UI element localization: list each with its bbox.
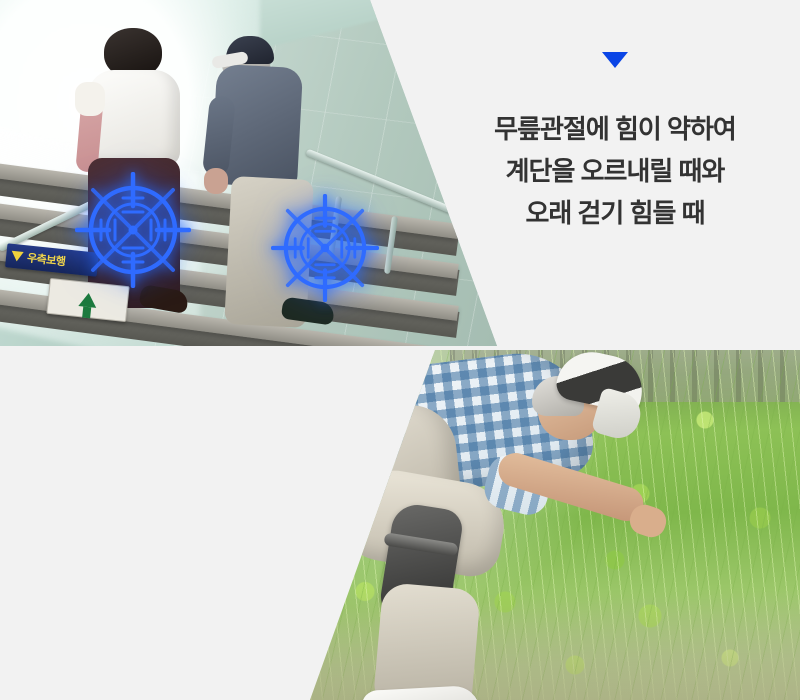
subway-stairs-photo: 우측보행 <box>0 0 500 346</box>
field-scene <box>300 350 800 700</box>
copy-top-line-1: 무릎관절에 힘이 약하여 <box>455 108 775 150</box>
copy-block-top: 무릎관절에 힘이 약하여 계단을 오르내릴 때와 오래 걷기 힘들 때 <box>455 52 775 234</box>
farmer-shin <box>373 582 481 700</box>
section-top: 우측보행 <box>0 0 800 346</box>
stairs-scene: 우측보행 <box>0 0 500 346</box>
promo-banner: 우측보행 <box>0 0 800 700</box>
arrow-down-icon <box>11 251 24 262</box>
copy-top-line-3: 오래 걷기 힘들 때 <box>455 192 775 234</box>
copy-top-line-2: 계단을 오르내릴 때와 <box>455 150 775 192</box>
arrow-up-icon <box>78 292 97 308</box>
section-bottom: 반복되는 농사일로 인하여 무릎관절에 무리가 많을 때 <box>0 350 800 700</box>
triangle-down-icon <box>602 52 628 68</box>
right-walk-sign-label: 우측보행 <box>26 249 66 269</box>
farmer-field-photo <box>300 350 800 700</box>
pedestrian-a-sleeve <box>75 82 105 116</box>
farmer-waist-pouch <box>328 399 394 439</box>
pedestrian-b-hand <box>204 168 228 194</box>
